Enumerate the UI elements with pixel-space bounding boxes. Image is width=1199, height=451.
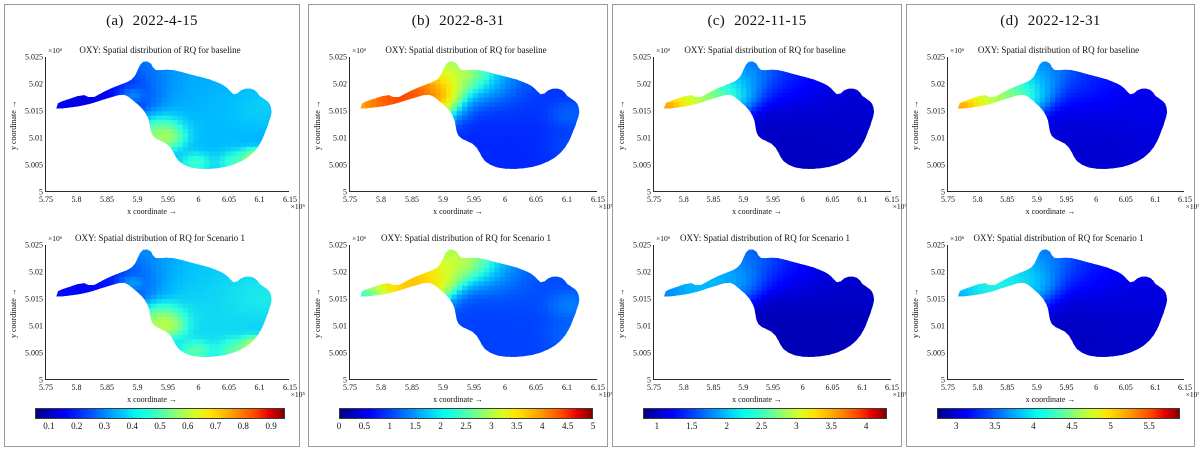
axes-c-scenario: ×10⁶×10⁵55.0055.015.0155.025.0255.755.85… (653, 245, 891, 380)
xtick-a-scenario-3: 5.9 (133, 383, 143, 392)
ytick-a-baseline-3: 5.015 (25, 107, 43, 116)
panel-b-date: 2022-8-31 (439, 13, 504, 29)
colorbar-b-tick-5: 2.5 (460, 421, 471, 431)
xtick-a-baseline-1: 5.8 (72, 195, 82, 204)
xlabel-c-scenario: x coordinate → (613, 395, 901, 404)
colorbar-a-tick-5: 0.6 (182, 421, 193, 431)
ytick-b-baseline-2: 5.01 (333, 134, 347, 143)
y-exponent-a-baseline: ×10⁶ (48, 46, 62, 55)
colorbar-a-tick-3: 0.4 (127, 421, 138, 431)
colorbar-gradient-b (339, 408, 593, 419)
colorbar-d-tick-2: 4 (1031, 421, 1036, 431)
xtick-c-scenario-3: 5.9 (738, 383, 748, 392)
colorbar-d-tick-5: 5.5 (1143, 421, 1154, 431)
xtick-d-scenario-4: 5.95 (1060, 383, 1074, 392)
colorbar-c-tick-4: 3 (794, 421, 799, 431)
xtick-d-scenario-2: 5.85 (1000, 383, 1014, 392)
xlabel-c-baseline: x coordinate → (613, 207, 901, 216)
panel-c-date: 2022-11-15 (734, 13, 806, 29)
axes-d-baseline: ×10⁶×10⁵55.0055.015.0155.025.0255.755.85… (947, 57, 1184, 192)
panel-c-tag: (c) (708, 13, 726, 29)
ytick-b-baseline-5: 5.025 (329, 53, 347, 62)
xtick-d-baseline-2: 5.85 (1000, 195, 1014, 204)
ytick-d-baseline-3: 5.015 (927, 107, 945, 116)
xtick-c-scenario-2: 5.85 (707, 383, 721, 392)
ytick-a-baseline-2: 5.01 (29, 134, 43, 143)
xtick-a-scenario-8: 6.15 (283, 383, 297, 392)
colorbar-b-tick-7: 3.5 (511, 421, 522, 431)
colorbar-a-tick-7: 0.8 (238, 421, 249, 431)
ytick-c-baseline-5: 5.025 (633, 53, 651, 62)
lake-raster-b-scenario (350, 245, 597, 379)
ytick-c-scenario-1: 5.005 (633, 349, 651, 358)
xtick-b-scenario-1: 5.8 (376, 383, 386, 392)
ylabel-b-scenario: y coordinate → (313, 279, 322, 347)
xtick-a-baseline-8: 6.15 (283, 195, 297, 204)
ytick-d-scenario-3: 5.015 (927, 295, 945, 304)
panel-b-title: (b)2022-8-31 (309, 13, 607, 30)
ylabel-d-scenario: y coordinate → (911, 279, 920, 347)
lake-raster-a-scenario (46, 245, 289, 379)
lake-raster-c-baseline (654, 57, 891, 191)
ytick-c-scenario-2: 5.01 (637, 322, 651, 331)
colorbar-gradient-c (643, 408, 887, 419)
ytick-b-baseline-4: 5.02 (333, 80, 347, 89)
ytick-a-baseline-4: 5.02 (29, 80, 43, 89)
xtick-a-baseline-7: 6.1 (255, 195, 265, 204)
xtick-b-baseline-2: 5.85 (405, 195, 419, 204)
colorbar-a-tick-8: 0.9 (265, 421, 276, 431)
ytick-d-baseline-5: 5.025 (927, 53, 945, 62)
ylabel-c-baseline: y coordinate → (617, 91, 626, 159)
xtick-c-baseline-0: 5.75 (647, 195, 661, 204)
xtick-c-scenario-7: 6.1 (857, 383, 867, 392)
colorbar-gradient-d (937, 408, 1180, 419)
panel-d: (d)2022-12-31OXY: Spatial distribution o… (906, 4, 1195, 447)
xlabel-a-scenario: x coordinate → (5, 395, 299, 404)
xtick-c-scenario-1: 5.8 (679, 383, 689, 392)
colorbar-a-tick-6: 0.7 (210, 421, 221, 431)
ytick-a-scenario-5: 5.025 (25, 241, 43, 250)
ytick-c-baseline-2: 5.01 (637, 134, 651, 143)
ylabel-b-baseline: y coordinate → (313, 91, 322, 159)
xtick-d-scenario-1: 5.8 (973, 383, 983, 392)
xtick-a-scenario-4: 5.95 (161, 383, 175, 392)
colorbar-gradient-a (35, 408, 285, 419)
ytick-a-scenario-2: 5.01 (29, 322, 43, 331)
xtick-a-baseline-4: 5.95 (161, 195, 175, 204)
panel-d-title: (d)2022-12-31 (907, 13, 1194, 30)
colorbar-a-tick-4: 0.5 (154, 421, 165, 431)
xtick-c-scenario-0: 5.75 (647, 383, 661, 392)
panel-b: (b)2022-8-31OXY: Spatial distribution of… (308, 4, 608, 447)
panel-d-date: 2022-12-31 (1028, 13, 1101, 29)
colorbar-b-tick-2: 1 (388, 421, 393, 431)
xtick-a-baseline-0: 5.75 (39, 195, 53, 204)
xtick-c-baseline-7: 6.1 (857, 195, 867, 204)
xtick-a-scenario-2: 5.85 (100, 383, 114, 392)
xlabel-d-scenario: x coordinate → (907, 395, 1194, 404)
ylabel-d-baseline: y coordinate → (911, 91, 920, 159)
ytick-d-scenario-2: 5.01 (931, 322, 945, 331)
panel-d-tag: (d) (1000, 13, 1018, 29)
xtick-c-baseline-6: 6.05 (826, 195, 840, 204)
xtick-d-scenario-8: 6.15 (1178, 383, 1192, 392)
xtick-a-baseline-6: 6.05 (222, 195, 236, 204)
xtick-b-baseline-0: 5.75 (343, 195, 357, 204)
xtick-b-scenario-4: 5.95 (467, 383, 481, 392)
xtick-d-baseline-3: 5.9 (1032, 195, 1042, 204)
ytick-a-baseline-5: 5.025 (25, 53, 43, 62)
panel-a: (a)2022-4-15OXY: Spatial distribution of… (4, 4, 300, 447)
xtick-b-baseline-6: 6.05 (529, 195, 543, 204)
xtick-d-scenario-5: 6 (1094, 383, 1098, 392)
xtick-b-scenario-0: 5.75 (343, 383, 357, 392)
y-exponent-a-scenario: ×10⁶ (48, 234, 62, 243)
lake-raster-d-baseline (948, 57, 1184, 191)
panel-a-title: (a)2022-4-15 (5, 13, 299, 30)
y-exponent-b-scenario: ×10⁶ (352, 234, 366, 243)
ytick-b-scenario-1: 5.005 (329, 349, 347, 358)
xtick-c-baseline-8: 6.15 (885, 195, 899, 204)
ytick-c-scenario-5: 5.025 (633, 241, 651, 250)
ytick-b-baseline-1: 5.005 (329, 161, 347, 170)
ytick-c-baseline-1: 5.005 (633, 161, 651, 170)
xtick-d-baseline-5: 6 (1094, 195, 1098, 204)
xtick-b-scenario-6: 6.05 (529, 383, 543, 392)
xtick-d-scenario-0: 5.75 (941, 383, 955, 392)
panel-c-title: (c)2022-11-15 (613, 13, 901, 30)
xtick-c-baseline-3: 5.9 (738, 195, 748, 204)
xtick-a-scenario-0: 5.75 (39, 383, 53, 392)
y-exponent-d-baseline: ×10⁶ (950, 46, 964, 55)
y-exponent-d-scenario: ×10⁶ (950, 234, 964, 243)
xlabel-a-baseline: x coordinate → (5, 207, 299, 216)
xtick-d-baseline-8: 6.15 (1178, 195, 1192, 204)
xtick-a-scenario-1: 5.8 (72, 383, 82, 392)
ytick-b-scenario-4: 5.02 (333, 268, 347, 277)
panel-a-date: 2022-4-15 (133, 13, 198, 29)
xtick-b-baseline-7: 6.1 (562, 195, 572, 204)
colorbar-b-tick-4: 2 (438, 421, 443, 431)
xtick-b-scenario-2: 5.85 (405, 383, 419, 392)
ytick-d-scenario-1: 5.005 (927, 349, 945, 358)
lake-raster-a-baseline (46, 57, 289, 191)
panel-c: (c)2022-11-15OXY: Spatial distribution o… (612, 4, 902, 447)
panel-a-tag: (a) (106, 13, 124, 29)
ytick-a-scenario-4: 5.02 (29, 268, 43, 277)
axes-b-scenario: ×10⁶×10⁵55.0055.015.0155.025.0255.755.85… (349, 245, 597, 380)
xtick-c-baseline-2: 5.85 (707, 195, 721, 204)
xtick-a-scenario-7: 6.1 (255, 383, 265, 392)
ytick-a-scenario-3: 5.015 (25, 295, 43, 304)
colorbar-c-tick-5: 3.5 (826, 421, 837, 431)
xtick-d-baseline-1: 5.8 (973, 195, 983, 204)
xtick-d-scenario-6: 6.05 (1119, 383, 1133, 392)
xtick-d-baseline-4: 5.95 (1060, 195, 1074, 204)
axes-a-scenario: ×10⁶×10⁵55.0055.015.0155.025.0255.755.85… (45, 245, 289, 380)
ytick-c-baseline-3: 5.015 (633, 107, 651, 116)
ytick-d-baseline-1: 5.005 (927, 161, 945, 170)
colorbar-b-tick-3: 1.5 (410, 421, 421, 431)
colorbar-d-tick-0: 3 (954, 421, 959, 431)
ytick-c-scenario-3: 5.015 (633, 295, 651, 304)
colorbar-c-tick-0: 1 (655, 421, 660, 431)
xtick-d-scenario-7: 6.1 (1150, 383, 1160, 392)
colorbar-b-tick-9: 4.5 (562, 421, 573, 431)
y-exponent-c-scenario: ×10⁶ (656, 234, 670, 243)
axes-d-scenario: ×10⁶×10⁵55.0055.015.0155.025.0255.755.85… (947, 245, 1184, 380)
ytick-d-scenario-5: 5.025 (927, 241, 945, 250)
xtick-b-baseline-8: 6.15 (591, 195, 605, 204)
y-exponent-c-baseline: ×10⁶ (656, 46, 670, 55)
ylabel-a-baseline: y coordinate → (9, 91, 18, 159)
colorbar-d-tick-4: 5 (1108, 421, 1113, 431)
ytick-c-baseline-4: 5.02 (637, 80, 651, 89)
colorbar-c-tick-1: 1.5 (686, 421, 697, 431)
colorbar-d-tick-1: 3.5 (989, 421, 1000, 431)
ytick-b-scenario-5: 5.025 (329, 241, 347, 250)
xtick-a-scenario-5: 6 (197, 383, 201, 392)
xtick-b-baseline-5: 6 (503, 195, 507, 204)
xtick-c-scenario-4: 5.95 (766, 383, 780, 392)
xtick-b-baseline-1: 5.8 (376, 195, 386, 204)
xtick-b-scenario-3: 5.9 (438, 383, 448, 392)
xtick-a-scenario-6: 6.05 (222, 383, 236, 392)
ylabel-a-scenario: y coordinate → (9, 279, 18, 347)
ytick-b-baseline-3: 5.015 (329, 107, 347, 116)
panel-b-tag: (b) (412, 13, 430, 29)
xlabel-b-baseline: x coordinate → (309, 207, 607, 216)
xtick-d-baseline-7: 6.1 (1150, 195, 1160, 204)
ytick-d-baseline-2: 5.01 (931, 134, 945, 143)
xtick-c-scenario-8: 6.15 (885, 383, 899, 392)
colorbar-d-tick-3: 4.5 (1066, 421, 1077, 431)
xtick-a-baseline-5: 6 (197, 195, 201, 204)
xtick-d-scenario-3: 5.9 (1032, 383, 1042, 392)
ytick-d-baseline-4: 5.02 (931, 80, 945, 89)
xtick-c-scenario-5: 6 (801, 383, 805, 392)
colorbar-a-tick-2: 0.3 (99, 421, 110, 431)
xtick-c-baseline-4: 5.95 (766, 195, 780, 204)
colorbar-a-tick-1: 0.2 (71, 421, 82, 431)
axes-a-baseline: ×10⁶×10⁵55.0055.015.0155.025.0255.755.85… (45, 57, 289, 192)
xtick-a-baseline-3: 5.9 (133, 195, 143, 204)
xtick-d-baseline-0: 5.75 (941, 195, 955, 204)
colorbar-a-tick-0: 0.1 (43, 421, 54, 431)
colorbar-c-tick-6: 4 (864, 421, 869, 431)
colorbar-b-tick-10: 5 (591, 421, 596, 431)
xtick-c-baseline-1: 5.8 (679, 195, 689, 204)
ytick-c-scenario-4: 5.02 (637, 268, 651, 277)
xtick-c-scenario-6: 6.05 (826, 383, 840, 392)
xtick-b-baseline-3: 5.9 (438, 195, 448, 204)
lake-raster-d-scenario (948, 245, 1184, 379)
colorbar-b-tick-8: 4 (540, 421, 545, 431)
xtick-c-baseline-5: 6 (801, 195, 805, 204)
xlabel-b-scenario: x coordinate → (309, 395, 607, 404)
xtick-b-scenario-7: 6.1 (562, 383, 572, 392)
colorbar-c-tick-3: 2.5 (756, 421, 767, 431)
colorbar-b-tick-6: 3 (489, 421, 494, 431)
axes-c-baseline: ×10⁶×10⁵55.0055.015.0155.025.0255.755.85… (653, 57, 891, 192)
ytick-d-scenario-4: 5.02 (931, 268, 945, 277)
colorbar-c-tick-2: 2 (724, 421, 729, 431)
figure-root: (a)2022-4-15OXY: Spatial distribution of… (0, 0, 1199, 451)
ytick-b-scenario-3: 5.015 (329, 295, 347, 304)
colorbar-b-tick-1: 0.5 (359, 421, 370, 431)
xlabel-d-baseline: x coordinate → (907, 207, 1194, 216)
axes-b-baseline: ×10⁶×10⁵55.0055.015.0155.025.0255.755.85… (349, 57, 597, 192)
xtick-b-scenario-5: 6 (503, 383, 507, 392)
xtick-d-baseline-6: 6.05 (1119, 195, 1133, 204)
lake-raster-b-baseline (350, 57, 597, 191)
colorbar-b-tick-0: 0 (337, 421, 342, 431)
y-exponent-b-baseline: ×10⁶ (352, 46, 366, 55)
xtick-b-scenario-8: 6.15 (591, 383, 605, 392)
xtick-b-baseline-4: 5.95 (467, 195, 481, 204)
ylabel-c-scenario: y coordinate → (617, 279, 626, 347)
ytick-b-scenario-2: 5.01 (333, 322, 347, 331)
ytick-a-scenario-1: 5.005 (25, 349, 43, 358)
xtick-a-baseline-2: 5.85 (100, 195, 114, 204)
lake-raster-c-scenario (654, 245, 891, 379)
ytick-a-baseline-1: 5.005 (25, 161, 43, 170)
